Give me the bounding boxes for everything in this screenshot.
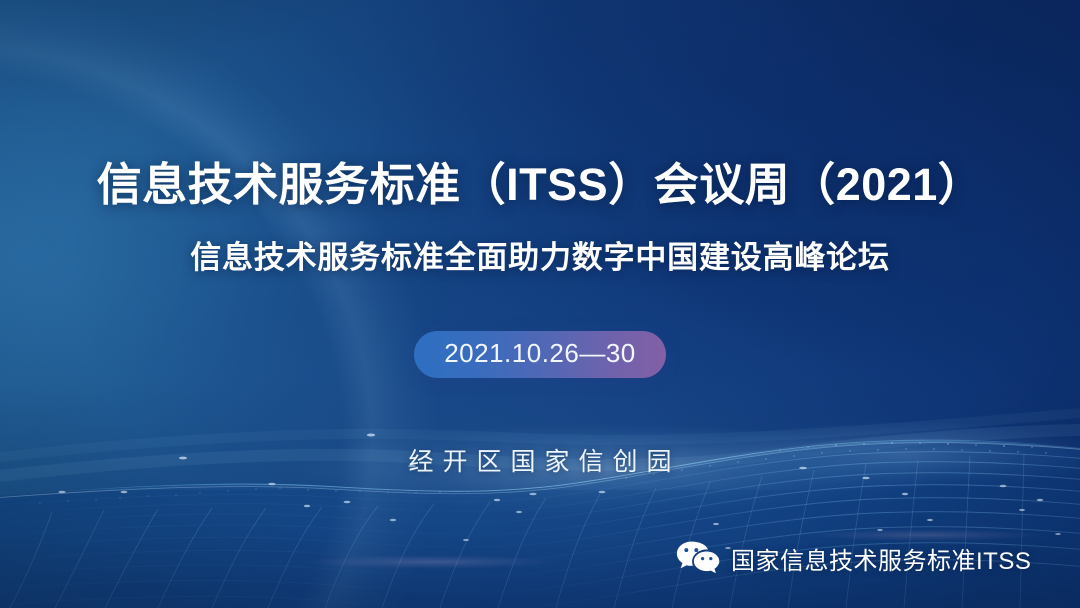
wechat-account-name: 国家信息技术服务标准ITSS xyxy=(731,541,1031,576)
date-badge: 2021.10.26—30 xyxy=(414,331,666,378)
wechat-icon xyxy=(676,540,720,576)
conference-poster: 信息技术服务标准（ITSS）会议周（2021） 信息技术服务标准全面助力数字中国… xyxy=(0,0,1080,608)
page-subtitle: 信息技术服务标准全面助力数字中国建设高峰论坛 xyxy=(0,232,1080,277)
poster-content: 信息技术服务标准（ITSS）会议周（2021） 信息技术服务标准全面助力数字中国… xyxy=(0,0,1080,608)
wechat-account-footer: 国家信息技术服务标准ITSS xyxy=(676,540,1031,576)
venue-label: 经开区国家信创园 xyxy=(0,442,1080,478)
page-title: 信息技术服务标准（ITSS）会议周（2021） xyxy=(0,148,1080,213)
date-badge-wrapper: 2021.10.26—30 xyxy=(0,331,1080,378)
